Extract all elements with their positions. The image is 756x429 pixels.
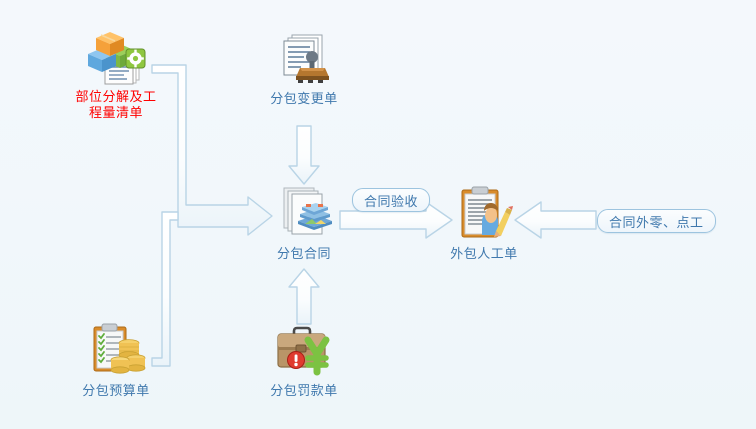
- clipboard-worker-icon: [452, 185, 516, 243]
- node-labor-order-label: 外包人工单: [450, 247, 518, 262]
- node-labor-order[interactable]: 外包人工单: [424, 185, 544, 262]
- layered-contract-icon: [272, 185, 336, 243]
- connector-penalty-to-subcontract: [289, 269, 319, 324]
- node-penalty-order-label: 分包罚款单: [270, 384, 338, 399]
- node-budget-sheet[interactable]: 分包预算单: [56, 322, 176, 399]
- node-subcontract-label: 分包合同: [277, 247, 331, 262]
- node-change-order-label: 分包变更单: [270, 92, 338, 107]
- clipboard-coins-icon: [84, 322, 148, 380]
- node-budget-sheet-label: 分包预算单: [82, 384, 150, 399]
- pill-extra-labor[interactable]: 合同外零、点工: [597, 209, 716, 233]
- pill-extra-labor-label: 合同外零、点工: [609, 212, 704, 231]
- document-stamp-icon: [272, 30, 336, 88]
- diagram-canvas: 部位分解及工程量清单: [0, 0, 756, 429]
- node-wbs-label: 部位分解及工程量清单: [70, 90, 162, 122]
- boxes-gear-documents-icon: [84, 28, 148, 86]
- pill-acceptance[interactable]: 合同验收: [352, 188, 430, 212]
- node-change-order[interactable]: 分包变更单: [244, 30, 364, 107]
- node-penalty-order[interactable]: 分包罚款单: [244, 322, 364, 399]
- pill-acceptance-label: 合同验收: [364, 191, 418, 210]
- node-subcontract[interactable]: 分包合同: [244, 185, 364, 262]
- node-wbs[interactable]: 部位分解及工程量清单: [56, 28, 176, 122]
- connector-change-to-subcontract: [289, 126, 319, 184]
- briefcase-yuan-warning-icon: [272, 322, 336, 380]
